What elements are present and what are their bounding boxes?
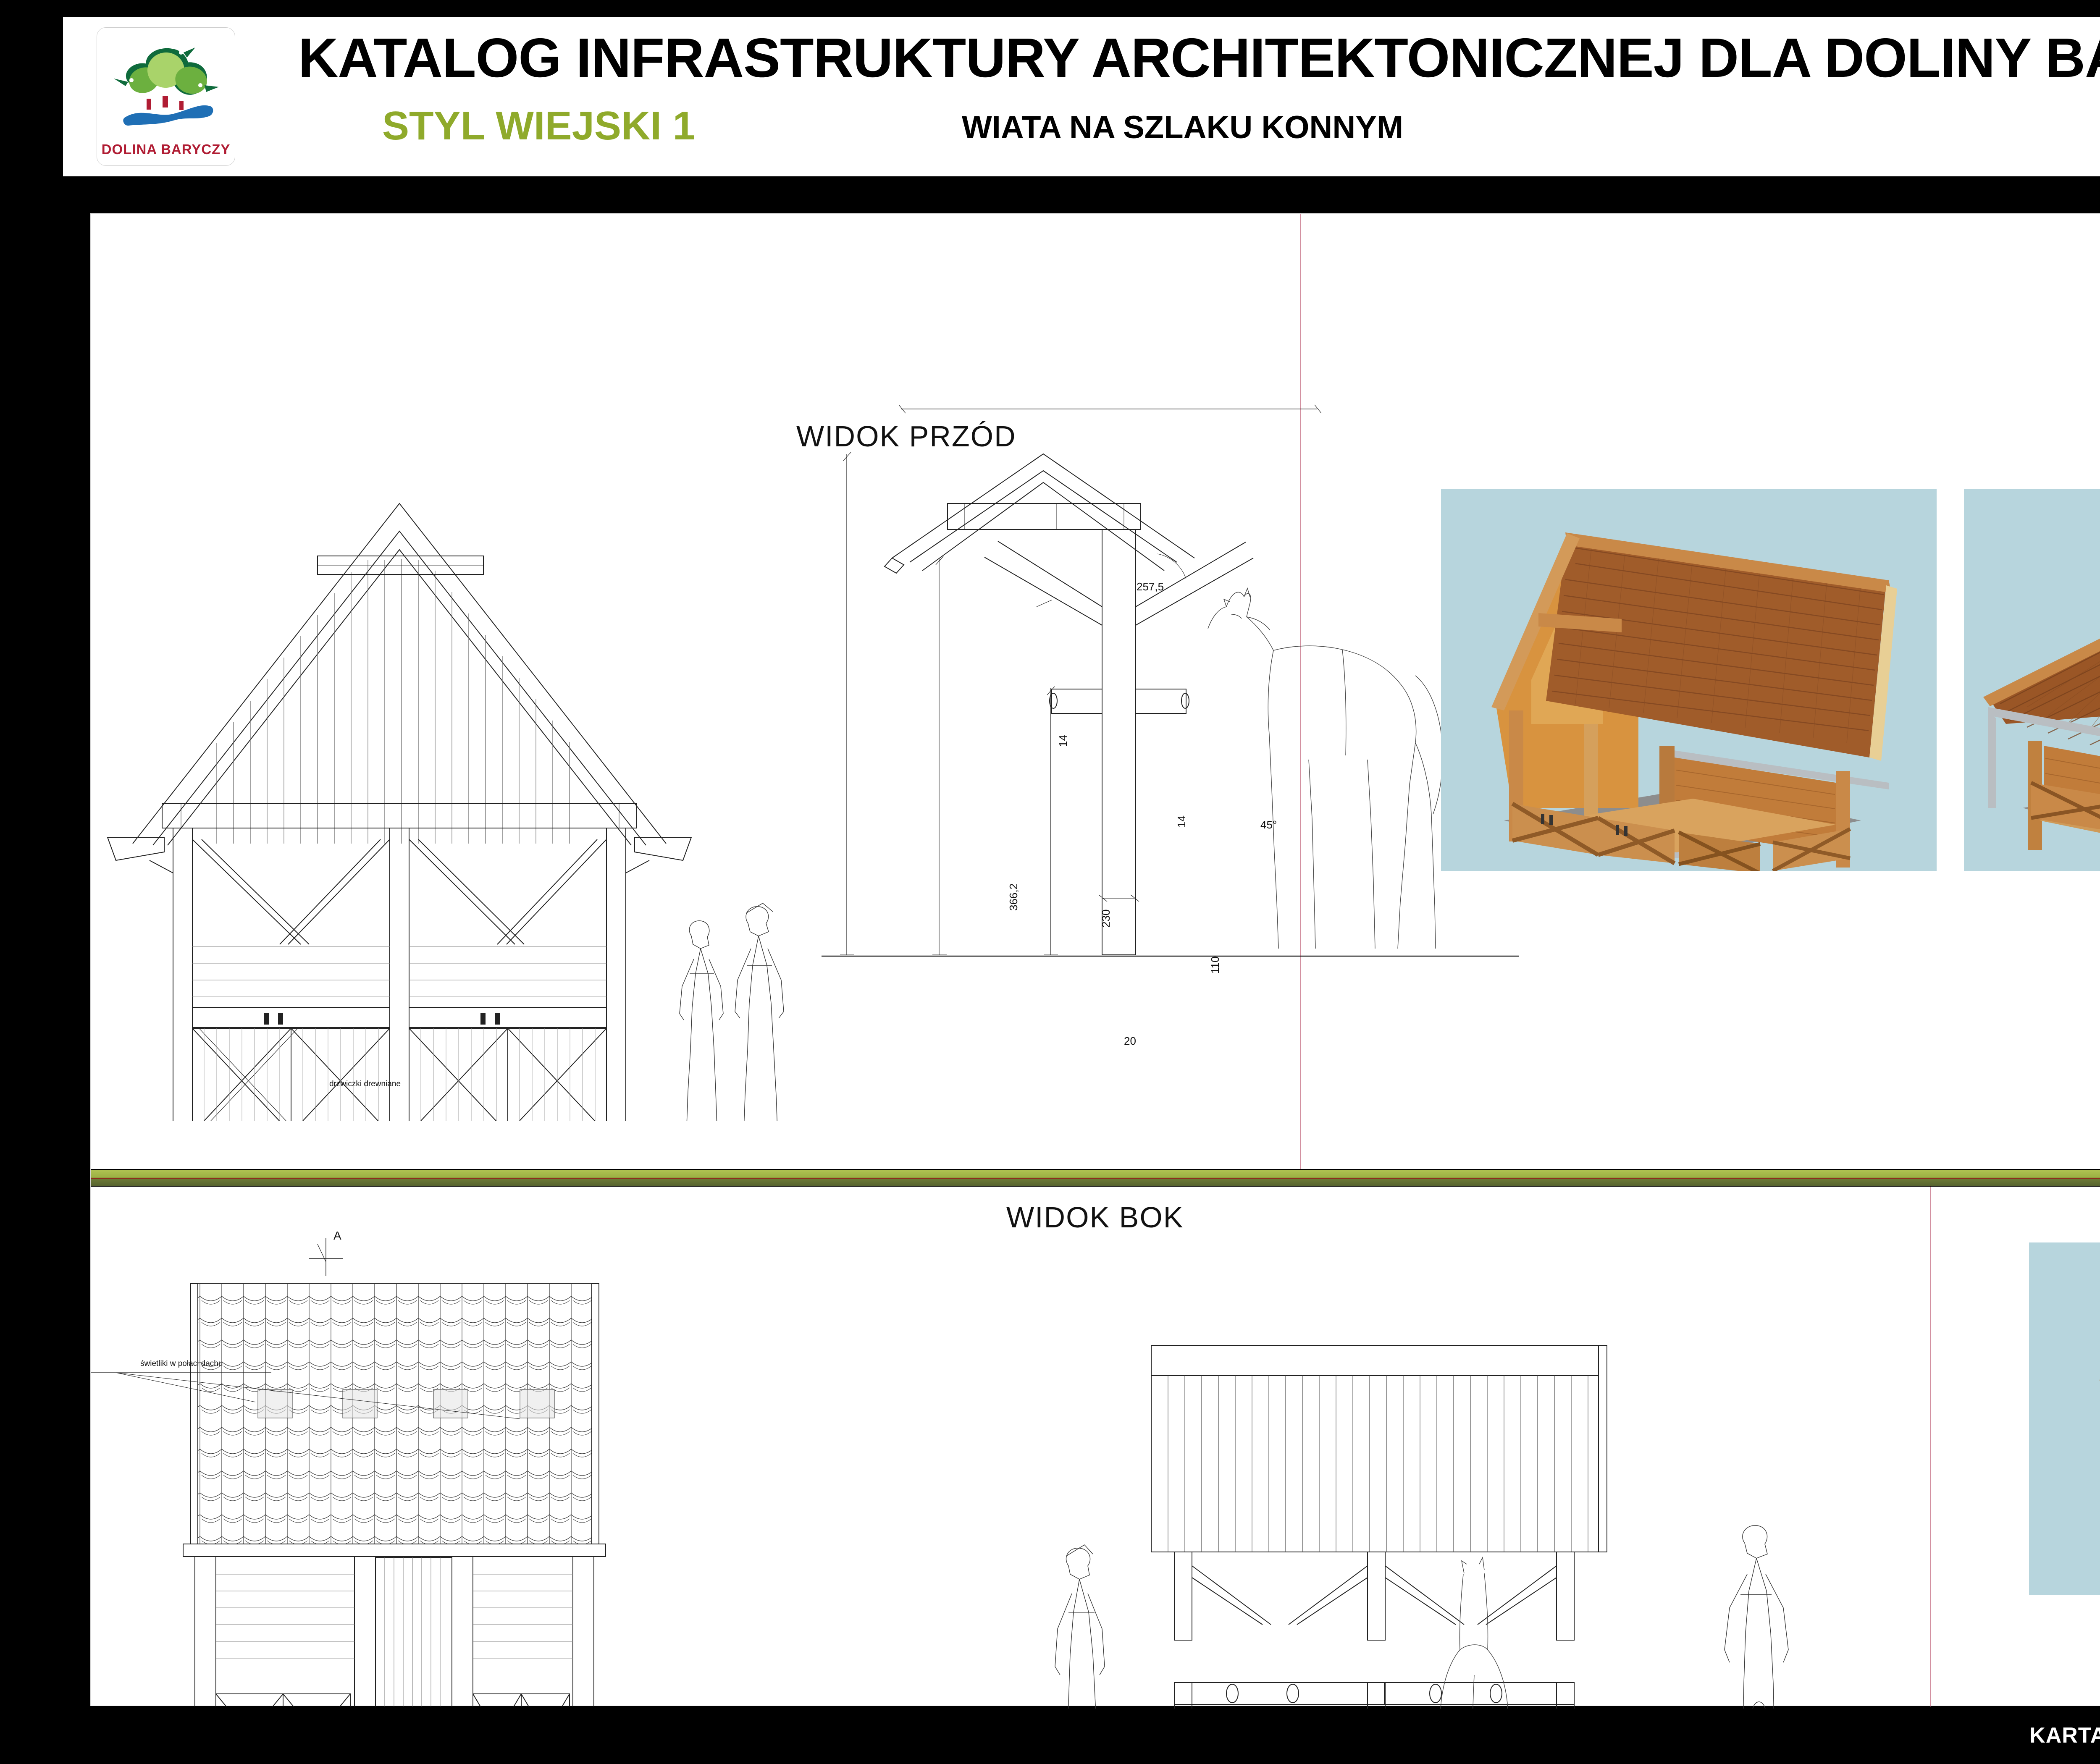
dolina-baryczy-mark	[107, 36, 225, 141]
logo-caption: DOLINA BARYCZY	[102, 142, 231, 157]
section-marker-top: A	[333, 1229, 341, 1242]
page-footer: KARTA: WIATA NA SZLAKU KONNYM 2/2	[0, 1714, 2100, 1764]
style-label: STYL WIEJSKI 1	[382, 103, 695, 149]
dim-roof-width: 257,5	[1137, 580, 1164, 593]
dim-beam-depth-top: 14	[1057, 735, 1070, 747]
dim-total-height: 366,2	[1007, 883, 1020, 911]
side-section-drawing	[1036, 1331, 1930, 1709]
catalog-page: DOLINA BARYCZY KATALOG INFRASTRUKTURY AR…	[0, 0, 2100, 1764]
drawing-sheet: WIDOK PRZÓD WIDOK BOK	[90, 213, 2100, 1706]
page-header: DOLINA BARYCZY KATALOG INFRASTRUKTURY AR…	[63, 17, 2100, 176]
annotation-front-door: drzwiczki drewniane	[329, 1080, 401, 1089]
dolina-baryczy-logo: DOLINA BARYCZY	[97, 27, 235, 166]
render-view-front-left	[1441, 489, 1937, 871]
render-view-front-right	[1964, 489, 2100, 871]
annotation-skylights: świetliki w połaci dachu	[140, 1359, 223, 1368]
section-divider	[91, 1169, 2100, 1187]
front-section-drawing	[822, 356, 1519, 1121]
dim-rail-height: 110	[1209, 957, 1222, 974]
page-title: KATALOG INFRASTRUKTURY ARCHITEKTONICZNEJ…	[298, 26, 2100, 89]
panel-divider-bottom	[1930, 1187, 1931, 1706]
footer-card-text: KARTA: WIATA NA SZLAKU KONNYM 2/2	[2029, 1723, 2100, 1748]
render-view-hitching-shelter	[2029, 1242, 2100, 1595]
dim-beam-depth-rafter: 14	[1175, 815, 1188, 828]
dim-roof-angle: 45°	[1260, 818, 1277, 831]
object-label: WIATA NA SZLAKU KONNYM	[962, 109, 1403, 146]
dim-post-width: 20	[1124, 1035, 1136, 1048]
dim-post-height: 230	[1100, 910, 1113, 928]
